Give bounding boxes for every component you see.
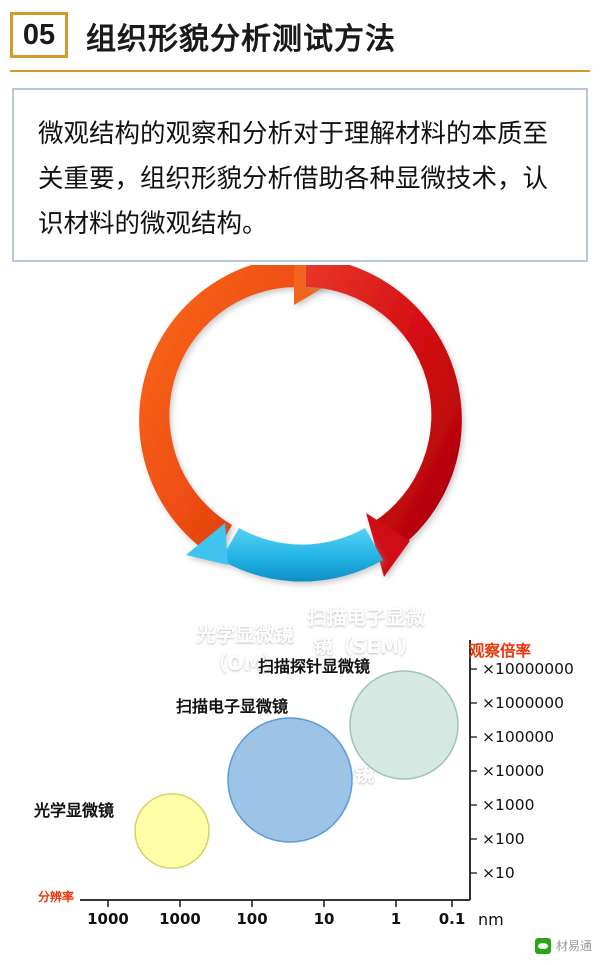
xtick-1: 1000	[150, 910, 210, 928]
ytick-5: ×1000000	[482, 694, 564, 712]
ytick-2: ×1000	[482, 796, 534, 814]
arc-segment-om	[139, 265, 338, 557]
ytick-1: ×100	[482, 830, 525, 848]
ytick-0: ×10	[482, 864, 515, 882]
x-axis-title: 分辨率	[38, 888, 74, 905]
xtick-4: 1	[370, 910, 422, 928]
section-number: 05	[23, 19, 55, 52]
arc-diagram: 光学显微镜（OM） 扫描电子显微镜（SEM） 扫描探针显微镜（SPM）	[0, 265, 600, 590]
watermark: 材易通	[535, 937, 592, 954]
section-number-box: 05	[10, 12, 68, 58]
xtick-2: 100	[222, 910, 282, 928]
xtick-3: 10	[297, 910, 351, 928]
intro-text: 微观结构的观察和分析对于理解材料的本质至关重要，组织形貌分析借助各种显微技术，认…	[38, 112, 572, 247]
arc-segment-spm	[186, 523, 383, 582]
ytick-6: ×10000000	[482, 660, 574, 678]
intro-box: 微观结构的观察和分析对于理解材料的本质至关重要，组织形貌分析借助各种显微技术，认…	[12, 88, 588, 262]
bubble-om	[135, 794, 209, 868]
header-divider	[10, 70, 590, 72]
ytick-3: ×10000	[482, 762, 544, 780]
page-header: 05 组织形貌分析测试方法	[0, 0, 600, 72]
bubble-label-om: 光学显微镜	[34, 797, 114, 821]
bubble-chart: 观察倍率 分辨率 光学显微镜 扫描电子显微镜 扫描探针显微镜 ×10 ×100 …	[0, 600, 600, 960]
bubble-spm	[350, 671, 458, 779]
arc-diagram-svg	[0, 265, 600, 590]
page-title: 组织形貌分析测试方法	[86, 14, 396, 58]
arc-segment-sem	[306, 265, 462, 577]
bubble-sem	[228, 718, 352, 842]
watermark-text: 材易通	[556, 937, 592, 954]
x-axis-unit: nm	[478, 910, 504, 929]
bubble-label-sem: 扫描电子显微镜	[176, 693, 288, 717]
xtick-5: 0.1	[426, 910, 478, 928]
ytick-4: ×100000	[482, 728, 554, 746]
leaf-icon	[535, 938, 551, 954]
xtick-0: 1000	[78, 910, 138, 928]
y-axis-title: 观察倍率	[469, 639, 531, 661]
bubble-label-spm: 扫描探针显微镜	[258, 653, 370, 677]
